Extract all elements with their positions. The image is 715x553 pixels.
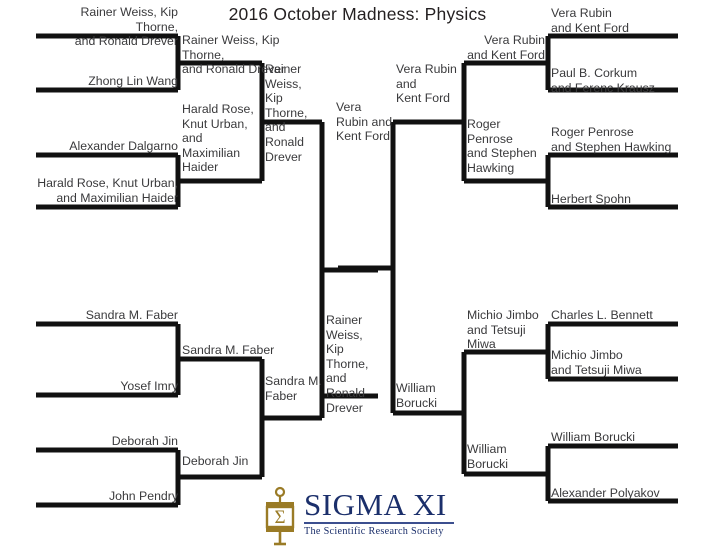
entrant-left-r2-3: Sandra M. Faber: [182, 343, 292, 358]
entrant-right-r1-8: Alexander Polyakov: [551, 486, 691, 501]
entrant-left-r1-5: Sandra M. Faber: [36, 308, 178, 323]
entrant-right-r2-3: Michio Jimbo and Tetsuji Miwa: [467, 308, 549, 352]
entrant-left-r1-3: Alexander Dalgarno: [36, 139, 178, 154]
entrant-left-r1-1: Rainer Weiss, Kip Thorne, and Ronald Dre…: [36, 5, 178, 49]
entrant-left-r1-6: Yosef Imry: [36, 379, 178, 394]
entrant-right-r1-5: Charles L. Bennett: [551, 308, 691, 323]
entrant-right-r4-1: Vera Rubin and Kent Ford: [336, 100, 394, 144]
entrant-left-r1-7: Deborah Jin: [36, 434, 178, 449]
entrant-right-r2-1: Vera Rubin and Kent Ford: [370, 33, 545, 62]
entrant-left-r3-2: Sandra M. Faber: [265, 374, 323, 403]
sigma-xi-rule: [304, 522, 454, 524]
entrant-left-r1-8: John Pendry: [36, 489, 178, 504]
sigma-xi-wordmark: Sigma Xi: [304, 488, 456, 521]
entrant-right-r1-2: Paul B. Corkum and Ferenc Krausz: [551, 66, 691, 95]
entrant-left-r1-2: Zhong Lin Wang: [36, 74, 178, 89]
entrant-left-r1-4: Harald Rose, Knut Urban, and Maximilian …: [30, 176, 178, 205]
entrant-right-r3-1: Vera Rubin and Kent Ford: [396, 62, 466, 106]
entrant-right-r1-7: William Borucki: [551, 430, 691, 445]
entrant-right-r2-4: William Borucki: [467, 442, 549, 471]
sigma-xi-logo: Σ Sigma Xi The Scientific Research Socie…: [252, 484, 457, 548]
bracket-container: 2016 October Madness: Physics: [0, 0, 715, 553]
sigma-xi-tagline: The Scientific Research Society: [304, 526, 456, 537]
entrant-champion: Rainer Weiss, Kip Thorne, and Ronald Dre…: [326, 313, 384, 415]
entrant-right-r3-2: William Borucki: [396, 381, 466, 410]
svg-text:Σ: Σ: [274, 507, 285, 528]
entrant-left-r2-4: Deborah Jin: [182, 454, 282, 469]
entrant-left-r2-2: Harald Rose, Knut Urban, and Maximilian …: [182, 102, 260, 175]
entrant-right-r1-6: Michio Jimbo and Tetsuji Miwa: [551, 348, 691, 377]
entrant-left-r3-1: Rainer Weiss, Kip Thorne, and Ronald Dre…: [265, 62, 323, 164]
entrant-right-r1-3: Roger Penrose and Stephen Hawking: [551, 125, 701, 154]
entrant-right-r2-2: Roger Penrose and Stephen Hawking: [467, 117, 549, 175]
entrant-right-r1-1: Vera Rubin and Kent Ford: [551, 6, 681, 35]
sigma-xi-key-icon: Σ: [258, 486, 302, 546]
entrant-right-r1-4: Herbert Spohn: [551, 192, 691, 207]
